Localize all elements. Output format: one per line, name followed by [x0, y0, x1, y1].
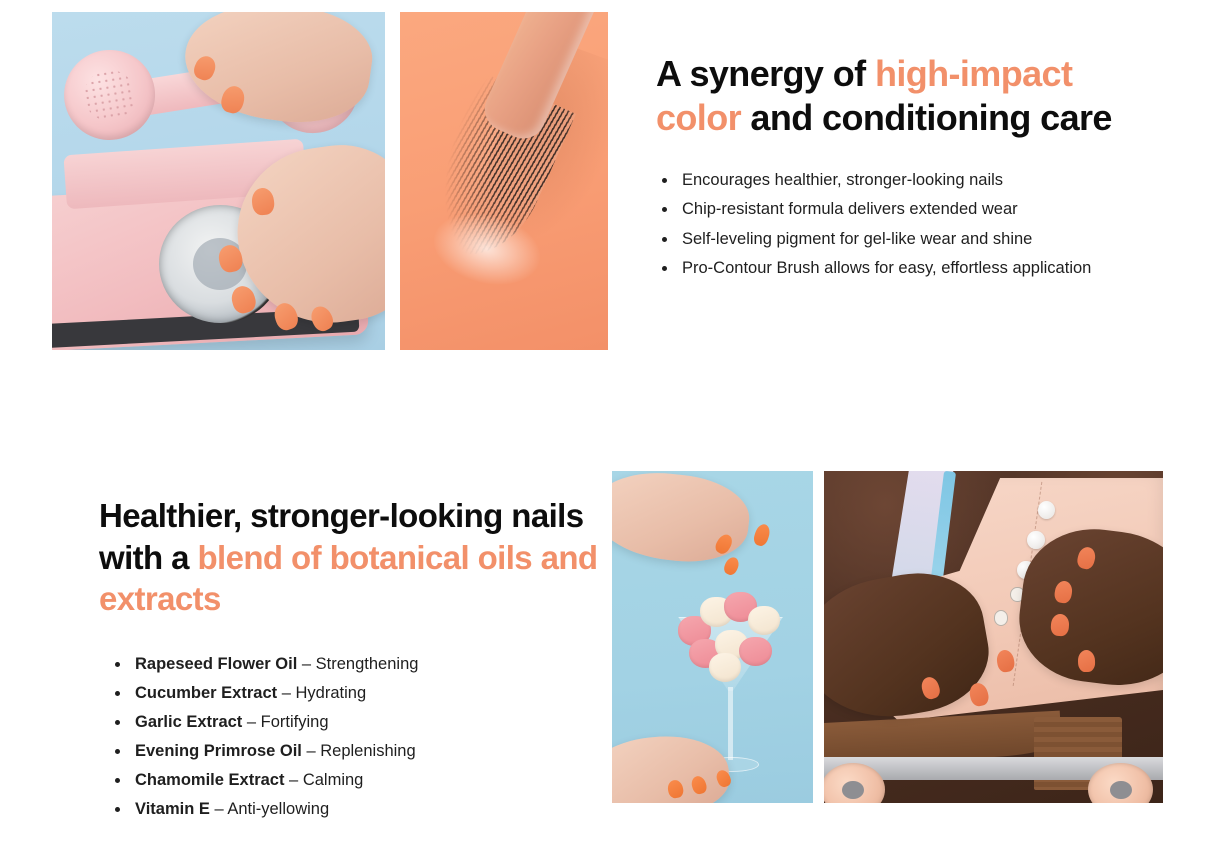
feature-text: Chip-resistant formula delivers extended… — [682, 200, 1018, 218]
top-headline: A synergy of high-impact color and condi… — [656, 52, 1146, 140]
candy-heart — [748, 606, 781, 635]
candy-heart — [739, 637, 772, 666]
top-copy-block: A synergy of high-impact color and condi… — [656, 52, 1146, 283]
list-item: Self-leveling pigment for gel-like wear … — [678, 225, 1146, 254]
ingredient-name: Chamomile Extract — [135, 771, 284, 789]
list-item: Garlic Extract – Fortifying — [131, 708, 599, 737]
photo-backdrop — [612, 471, 813, 803]
feature-list: Encourages healthier, stronger-looking n… — [656, 166, 1146, 283]
list-item: Vitamin E – Anti-yellowing — [131, 795, 599, 824]
ingredient-separator: – — [297, 655, 315, 673]
ingredient-name: Evening Primrose Oil — [135, 742, 302, 760]
bottom-copy-block: Healthier, stronger-looking nails with a… — [99, 495, 599, 824]
painted-nail — [1078, 650, 1096, 672]
ingredient-separator: – — [242, 713, 260, 731]
bottom-headline: Healthier, stronger-looking nails with a… — [99, 495, 599, 620]
painted-nail — [1050, 613, 1069, 636]
list-item: Pro-Contour Brush allows for easy, effor… — [678, 254, 1146, 283]
photo-backdrop — [52, 12, 385, 350]
hand-upper — [612, 471, 753, 569]
top-headline-part-1: A synergy of — [656, 53, 875, 94]
ingredient-separator: – — [302, 742, 320, 760]
list-item: Chip-resistant formula delivers extended… — [678, 195, 1146, 224]
ingredient-benefit: Calming — [303, 771, 364, 789]
list-item: Cucumber Extract – Hydrating — [131, 679, 599, 708]
photo-backdrop — [824, 471, 1163, 803]
lace-eyelet — [994, 610, 1008, 625]
photo-backdrop — [400, 12, 608, 350]
feature-text: Self-leveling pigment for gel-like wear … — [682, 230, 1032, 248]
painted-nail — [752, 522, 772, 547]
handset-earpiece — [58, 44, 162, 147]
feature-text: Pro-Contour Brush allows for easy, effor… — [682, 259, 1091, 277]
list-item: Chamomile Extract – Calming — [131, 766, 599, 795]
ingredient-benefit: Fortifying — [261, 713, 329, 731]
polish-brush-photo — [400, 12, 608, 350]
ingredient-list: Rapeseed Flower Oil – Strengthening Cucu… — [99, 650, 599, 824]
roller-skate-photo — [824, 471, 1163, 803]
painted-nail — [721, 555, 740, 577]
ingredient-separator: – — [210, 800, 227, 818]
ingredient-separator: – — [284, 771, 302, 789]
feature-text: Encourages healthier, stronger-looking n… — [682, 171, 1003, 189]
ingredient-name: Rapeseed Flower Oil — [135, 655, 297, 673]
ingredient-name: Vitamin E — [135, 800, 210, 818]
ingredient-benefit: Anti-yellowing — [227, 800, 329, 818]
list-item: Rapeseed Flower Oil – Strengthening — [131, 650, 599, 679]
heart-candy-pile — [676, 591, 785, 677]
candy-martini-photo — [612, 471, 813, 803]
ingredient-name: Cucumber Extract — [135, 684, 277, 702]
pink-rotary-phone-photo — [52, 12, 385, 350]
ingredient-name: Garlic Extract — [135, 713, 242, 731]
list-item: Encourages healthier, stronger-looking n… — [678, 166, 1146, 195]
list-item: Evening Primrose Oil – Replenishing — [131, 737, 599, 766]
ingredient-benefit: Hydrating — [296, 684, 367, 702]
ingredient-benefit: Strengthening — [316, 655, 419, 673]
ingredient-benefit: Replenishing — [320, 742, 415, 760]
ingredient-separator: – — [277, 684, 295, 702]
top-headline-part-3: and conditioning care — [741, 97, 1112, 138]
martini-glass-stem — [728, 687, 733, 760]
